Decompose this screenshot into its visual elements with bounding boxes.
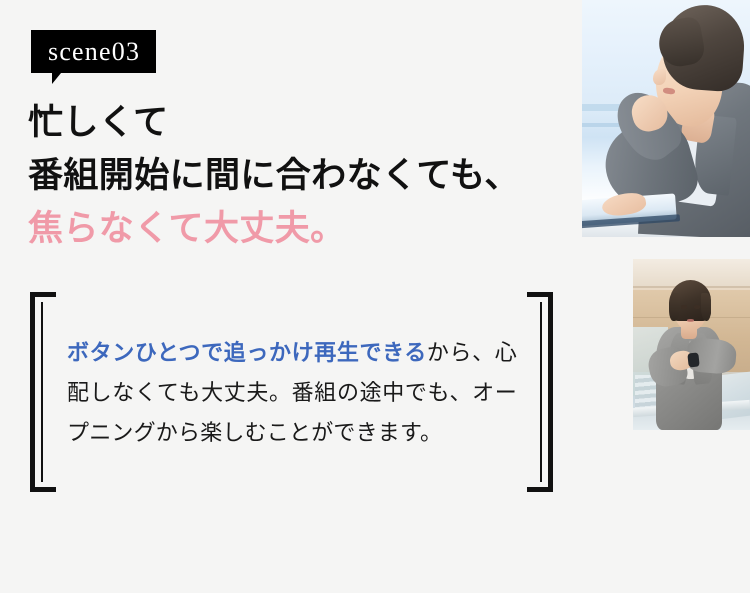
panel-body-highlight: ボタンひとつで追っかけ再生できる	[67, 340, 427, 365]
headline-line-3-accent: 焦らなくて大丈夫。	[28, 202, 573, 255]
bracket-left-icon	[30, 292, 58, 492]
scene-badge: scene03	[31, 30, 156, 73]
photo-woman-checking-watch-illustration	[633, 259, 750, 430]
headline: 忙しくて 番組開始に間に合わなくても、 焦らなくて大丈夫。	[28, 96, 573, 255]
scene-badge-tail-icon	[52, 73, 70, 84]
photo-woman-at-laptop-illustration	[582, 0, 750, 237]
headline-line-1: 忙しくて	[28, 96, 573, 149]
photo-woman-checking-watch	[633, 259, 750, 430]
bracket-right-icon	[525, 292, 553, 492]
headline-line-2: 番組開始に間に合わなくても、	[28, 149, 573, 202]
promo-scene-card: scene03 忙しくて 番組開始に間に合わなくても、 焦らなくて大丈夫。 ボタ…	[0, 0, 750, 593]
scene-badge-label: scene03	[31, 30, 156, 73]
panel-body-text: ボタンひとつで追っかけ再生できるから、心配しなくても大丈夫。番組の途中でも、オー…	[67, 333, 517, 453]
photo-woman-at-laptop	[582, 0, 750, 237]
bracket-panel: ボタンひとつで追っかけ再生できるから、心配しなくても大丈夫。番組の途中でも、オー…	[30, 292, 553, 492]
